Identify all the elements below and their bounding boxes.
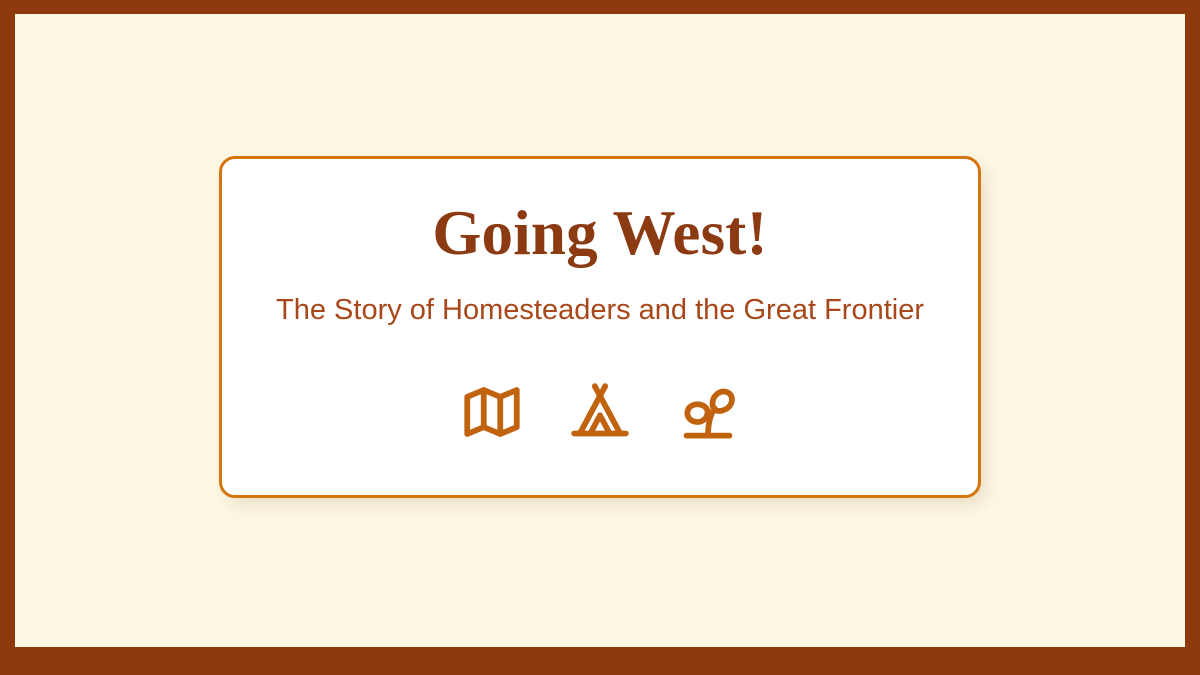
slide-outer-frame: Going West! The Story of Homesteaders an… bbox=[0, 0, 1200, 675]
map-icon bbox=[459, 379, 525, 445]
page-title: Going West! bbox=[432, 199, 767, 267]
teepee-icon bbox=[567, 379, 633, 445]
title-card: Going West! The Story of Homesteaders an… bbox=[219, 156, 981, 498]
slide-canvas: Going West! The Story of Homesteaders an… bbox=[15, 14, 1185, 647]
sprout-icon bbox=[675, 379, 741, 445]
page-subtitle: The Story of Homesteaders and the Great … bbox=[276, 293, 924, 328]
decorative-icon-row bbox=[459, 379, 741, 445]
